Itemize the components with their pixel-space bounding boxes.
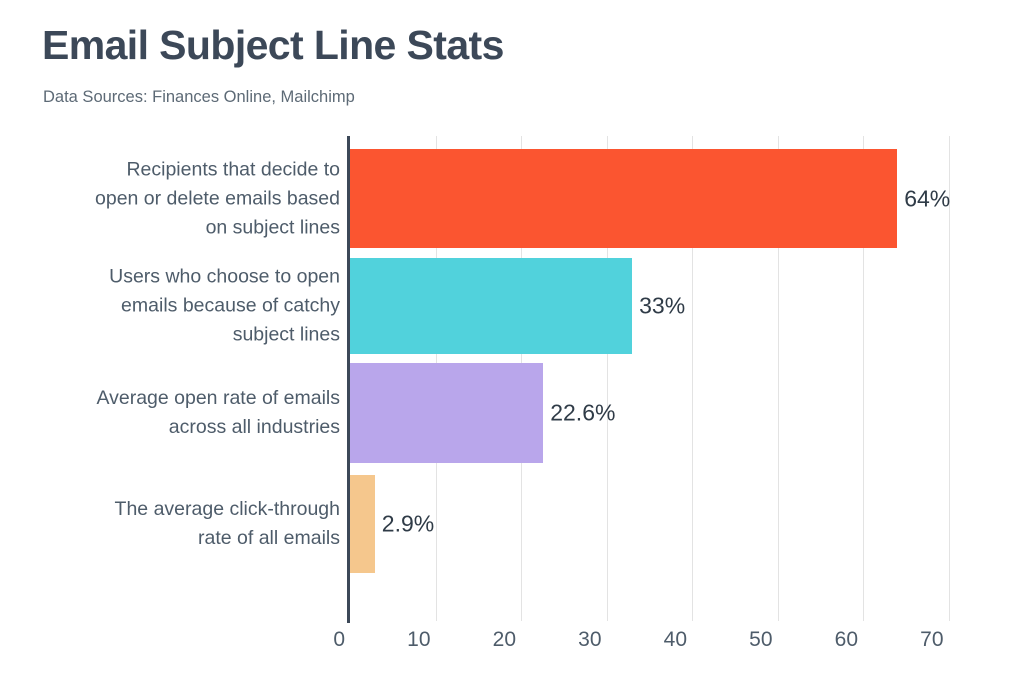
y-axis-line — [347, 136, 350, 623]
x-tick-40: 40 — [664, 628, 687, 652]
category-label-line: The average click-through — [20, 495, 340, 524]
bar-3[interactable] — [350, 363, 543, 463]
bar-value-label-4: 2.9% — [382, 511, 434, 538]
bar-value-label-3: 22.6% — [550, 400, 615, 427]
category-label-line: rate of all emails — [20, 524, 340, 553]
category-label-line: across all industries — [20, 413, 340, 442]
bar-1[interactable] — [350, 149, 897, 248]
x-tick-0: 0 — [333, 628, 345, 652]
x-tick-60: 60 — [835, 628, 858, 652]
x-tick-50: 50 — [749, 628, 772, 652]
category-label-4: The average click-throughrate of all ema… — [20, 495, 340, 553]
category-label-line: Average open rate of emails — [20, 384, 340, 413]
category-label-2: Users who choose to openemails because o… — [20, 263, 340, 350]
category-label-3: Average open rate of emailsacross all in… — [20, 384, 340, 442]
bar-chart-figure: Email Subject Line Stats Data Sources: F… — [0, 0, 1024, 699]
bar-value-label-1: 64% — [904, 185, 950, 212]
category-label-line: Recipients that decide to — [20, 155, 340, 184]
x-tick-70: 70 — [920, 628, 943, 652]
x-tick-30: 30 — [578, 628, 601, 652]
x-tick-10: 10 — [407, 628, 430, 652]
category-label-line: emails because of catchy — [20, 292, 340, 321]
category-label-1: Recipients that decide toopen or delete … — [20, 155, 340, 242]
bar-4[interactable] — [350, 475, 375, 573]
x-tick-20: 20 — [493, 628, 516, 652]
category-label-line: subject lines — [20, 321, 340, 350]
category-label-line: on subject lines — [20, 213, 340, 242]
y-axis-category-labels: Recipients that decide toopen or delete … — [20, 0, 340, 699]
category-label-line: Users who choose to open — [20, 263, 340, 292]
category-label-line: open or delete emails based — [20, 184, 340, 213]
bar-value-label-2: 33% — [639, 293, 685, 320]
bar-2[interactable] — [350, 258, 632, 354]
